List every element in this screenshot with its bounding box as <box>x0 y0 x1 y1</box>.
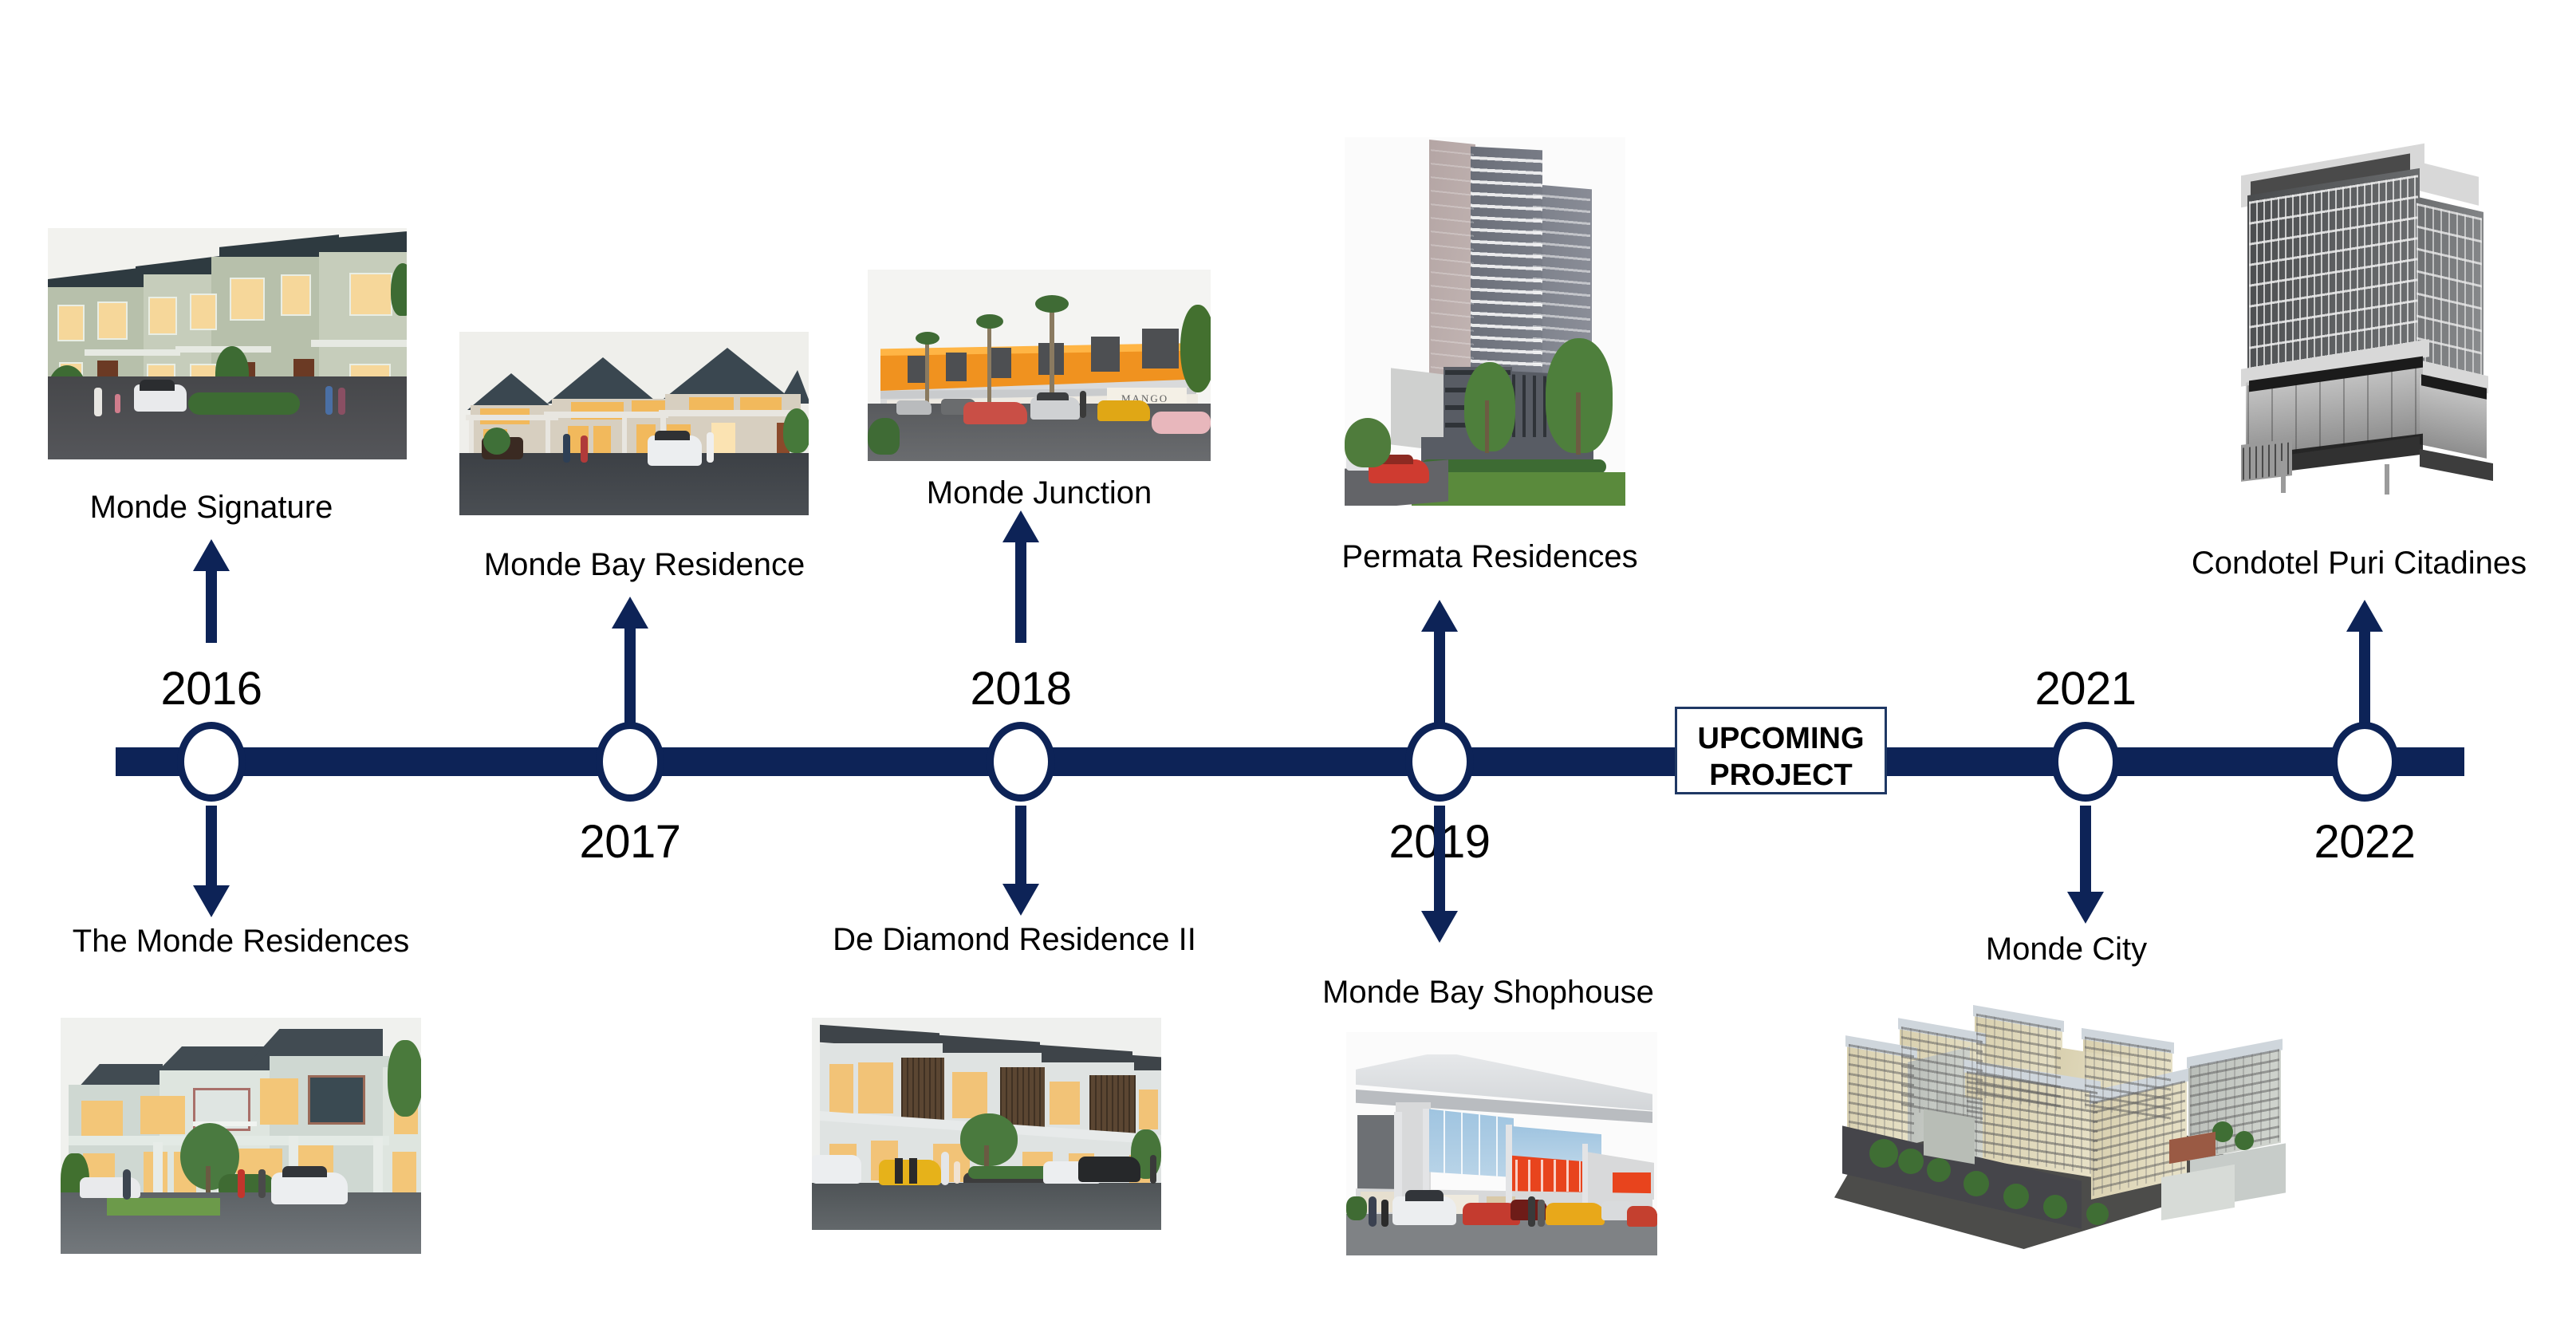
project-image-monde-city <box>1786 1002 2297 1252</box>
year-label-2021: 2021 <box>2034 662 2136 715</box>
project-image-de-diamond-residence-ii <box>812 1018 1161 1230</box>
upcoming-line-2: PROJECT <box>1709 759 1852 792</box>
project-image-permata-residences <box>1345 137 1625 506</box>
project-image-monde-junction: MANGO <box>868 270 1211 461</box>
upcoming-line-1: UPCOMING <box>1698 722 1865 755</box>
year-label-2016: 2016 <box>160 662 262 715</box>
project-image-monde-bay-shophouse <box>1346 1032 1657 1255</box>
timeline-node-2017[interactable] <box>596 722 664 802</box>
connector-monde-junction <box>1002 510 1040 643</box>
project-label-monde-bay-residence: Monde Bay Residence <box>484 547 805 583</box>
connector-permata-residences <box>1420 600 1459 726</box>
project-label-monde-bay-shophouse: Monde Bay Shophouse <box>1322 975 1654 1011</box>
connector-monde-bay-residence <box>611 597 649 726</box>
project-label-monde-junction: Monde Junction <box>927 475 1152 511</box>
upcoming-project-badge: UPCOMING PROJECT <box>1675 707 1887 794</box>
project-image-the-monde-residences <box>61 1018 421 1254</box>
project-label-the-monde-residences: The Monde Residences <box>73 924 409 960</box>
timeline-node-2022[interactable] <box>2330 722 2399 802</box>
project-label-de-diamond-residence-ii: De Diamond Residence II <box>833 922 1196 958</box>
connector-monde-signature <box>192 539 230 643</box>
connector-monde-bay-shophouse <box>1420 806 1459 943</box>
connector-condotel-puri-citadines <box>2346 600 2384 726</box>
timeline-node-2019[interactable] <box>1405 722 1474 802</box>
project-label-permata-residences: Permata Residences <box>1341 539 1637 575</box>
connector-the-monde-residences <box>192 806 230 917</box>
timeline-node-2018[interactable] <box>987 722 1055 802</box>
project-label-monde-city: Monde City <box>1986 932 2147 967</box>
project-image-monde-bay-residence <box>459 332 809 515</box>
project-label-condotel-puri-citadines: Condotel Puri Citadines <box>2192 546 2527 581</box>
project-label-monde-signature: Monde Signature <box>90 490 333 526</box>
connector-monde-city <box>2066 806 2105 924</box>
timeline-diagram: MANGO <box>0 0 2576 1332</box>
project-image-monde-signature <box>48 228 407 459</box>
connector-de-diamond-residence-ii <box>1002 806 1040 916</box>
year-label-2018: 2018 <box>970 662 1071 715</box>
year-label-2022: 2022 <box>2314 815 2415 869</box>
timeline-node-2021[interactable] <box>2051 722 2120 802</box>
project-image-condotel-puri-citadines <box>2206 140 2544 498</box>
timeline-node-2016[interactable] <box>177 722 246 802</box>
year-label-2017: 2017 <box>579 815 680 869</box>
